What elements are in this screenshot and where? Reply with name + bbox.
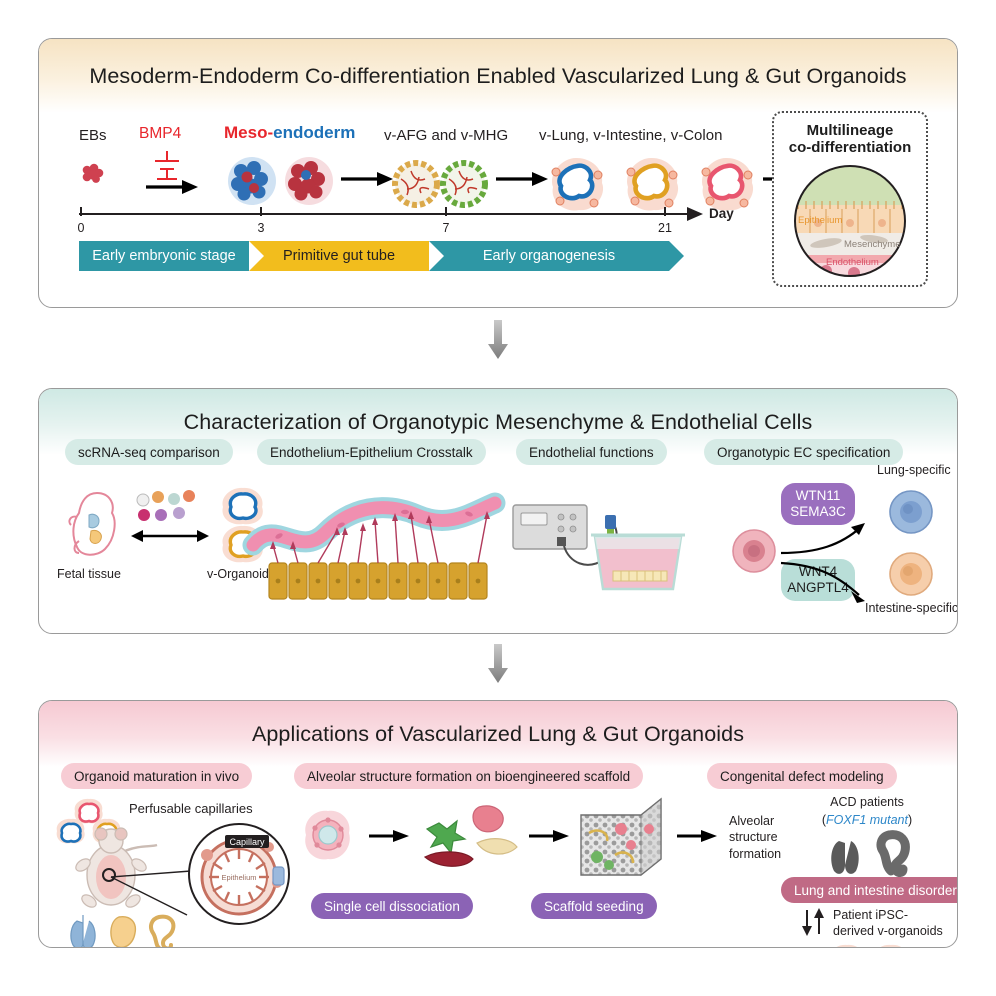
arrow-ebs-to-meso-icon: [144, 179, 200, 195]
patient-derived-organoids-icon: [825, 943, 917, 948]
arrow-afg-to-organoids-icon: [494, 171, 550, 187]
label-afg-mhg: v-AFG and v-MHG: [384, 127, 508, 144]
v-afg-organoid-icon: [391, 159, 441, 209]
label-ebs: EBs: [79, 127, 107, 144]
timeline-stage-primitive-gut-tube: Primitive gut tube: [249, 241, 429, 271]
intestine-specific-ec-icon: [885, 549, 937, 599]
panel-applications: Applications of Vascularized Lung & Gut …: [38, 700, 958, 948]
subsection-pill-scaffold[interactable]: Alveolar structure formation on bioengin…: [294, 763, 643, 789]
label-fetal-tissue: Fetal tissue: [57, 567, 121, 581]
comparison-double-arrow-icon: [131, 529, 209, 543]
panel2-body: scRNA-seq comparison Endothelium-Epithel…: [39, 455, 957, 633]
panel3-header: Applications of Vascularized Lung & Gut …: [39, 701, 957, 767]
teer-measurement-apparatus-icon: [509, 485, 689, 595]
gene-lung-line1: WTN11: [796, 488, 841, 504]
arrow-meso-to-afg-icon: [339, 171, 395, 187]
label-foxf1-mutant: (FOXF1 mutant): [822, 813, 912, 827]
timeline-tick-0: [80, 207, 82, 216]
timeline-day-label: Day: [709, 206, 734, 221]
gene-foxf1: FOXF1 mutant: [826, 813, 908, 827]
inset-label-epithelium: Epithelium: [221, 873, 256, 882]
timeline-tick-7: [445, 207, 447, 216]
layer-label-endothelium: Endothelium: [826, 257, 879, 268]
timeline-stage-label: Primitive gut tube: [283, 248, 395, 264]
bioengineered-scaffold-icon: [575, 795, 667, 887]
timeline-tick-label-3: 3: [258, 221, 265, 235]
arrow-to-scaffold-icon: [527, 829, 571, 843]
page-title: Characterization of Organotypic Mesenchy…: [184, 410, 813, 435]
endoderm-cell-cluster-icon: [282, 155, 336, 207]
capillary-inset-icon: Capillary Epithelium: [185, 821, 293, 927]
endothelium-epithelium-crosstalk-diagram: [245, 481, 505, 603]
label-alveolar-structure-formation: Alveolar structure formation: [729, 813, 781, 862]
subsection-pill-endothelial-functions[interactable]: Endothelial functions: [516, 439, 667, 465]
timeline-axis: [79, 213, 689, 215]
panel1-body: EBs BMP4: [39, 113, 957, 308]
subsection-pill-scrna[interactable]: scRNA-seq comparison: [65, 439, 233, 465]
timeline-tick-label-0: 0: [78, 221, 85, 235]
result-line3: formation: [729, 847, 781, 861]
result-line2: structure: [729, 830, 778, 844]
fetal-tissue-icon: [63, 487, 129, 561]
organoid-source-icon: [297, 807, 359, 867]
ipsc-line1: Patient iPSC-: [833, 908, 908, 922]
subsection-pill-ec-specification[interactable]: Organotypic EC specification: [704, 439, 903, 465]
diseased-lung-intestine-icon: [827, 833, 913, 875]
paren-close: ): [908, 813, 912, 827]
multilineage-title-line1: Multilineage: [807, 122, 894, 139]
figure-canvas: Mesoderm-Endoderm Co-differentiation Ena…: [0, 0, 996, 996]
label-lung-specific: Lung-specific: [877, 463, 951, 477]
disorder-pill-lung-intestine[interactable]: Lung and intestine disorders: [781, 877, 958, 903]
step-pill-scaffold-seeding[interactable]: Scaffold seeding: [531, 893, 657, 919]
timeline-stage-label: Early embryonic stage: [92, 248, 235, 264]
step-pill-single-cell-dissociation[interactable]: Single cell dissociation: [311, 893, 473, 919]
multilineage-tissue-diagram: Epithelium Mesenchyme Endothelium: [792, 165, 908, 277]
timeline-tick-label-7: 7: [443, 221, 450, 235]
subsection-pill-crosstalk[interactable]: Endothelium-Epithelium Crosstalk: [257, 439, 486, 465]
panel3-body: Organoid maturation in vivo Alveolar str…: [39, 767, 957, 947]
connector-arrow-2-icon: [487, 644, 509, 684]
multilineage-title-line2: co-differentiation: [789, 139, 912, 156]
label-endoderm: endoderm: [273, 123, 355, 142]
multilineage-title: Multilineage co-differentiation: [774, 122, 926, 157]
timeline-stage-early-embryonic: Early embryonic stage: [79, 241, 249, 271]
panel-codifferentiation: Mesoderm-Endoderm Co-differentiation Ena…: [38, 38, 958, 308]
label-bmp4: BMP4: [139, 125, 181, 143]
v-lung-organoid-icon: [544, 155, 610, 215]
label-acd-patients: ACD patients: [830, 795, 904, 809]
panel1-header: Mesoderm-Endoderm Co-differentiation Ena…: [39, 39, 957, 113]
page-title: Mesoderm-Endoderm Co-differentiation Ena…: [89, 64, 906, 89]
label-meso: Meso: [224, 123, 267, 142]
bidirectional-arrows-icon: [799, 907, 827, 937]
organ-icons-lung-stomach-intestine: [67, 911, 187, 948]
result-line1: Alveolar: [729, 814, 774, 828]
eb-cluster-icon: [79, 161, 107, 187]
label-patient-ipsc-organoids: Patient iPSC- derived v-organoids: [833, 907, 943, 940]
inset-label-capillary: Capillary: [229, 837, 265, 847]
arrow-to-result-icon: [675, 829, 719, 843]
subsection-pill-in-vivo[interactable]: Organoid maturation in vivo: [61, 763, 252, 789]
dissociated-cells-icon: [417, 801, 527, 871]
label-perfusable-capillaries: Perfusable capillaries: [129, 801, 253, 816]
timeline-stage-early-organogenesis: Early organogenesis: [429, 241, 669, 271]
arrow-to-dissociation-icon: [367, 829, 411, 843]
label-meso-endoderm: Meso-endoderm: [224, 123, 355, 143]
multilineage-box: Multilineage co-differentiation: [772, 111, 928, 287]
v-intestine-organoid-icon: [619, 155, 685, 215]
page-title: Applications of Vascularized Lung & Gut …: [252, 722, 744, 747]
mesoderm-cell-cluster-icon: [225, 155, 279, 207]
panel-characterization: Characterization of Organotypic Mesenchy…: [38, 388, 958, 634]
v-mhg-organoid-icon: [439, 159, 489, 209]
timeline-tick-label-21: 21: [658, 221, 672, 235]
timeline-arrowhead-icon: [687, 207, 705, 221]
layer-label-mesenchyme: Mesenchyme: [844, 239, 901, 250]
label-vascularized-organoids: v-Lung, v-Intestine, v-Colon: [539, 127, 722, 144]
subsection-pill-congenital[interactable]: Congenital defect modeling: [707, 763, 897, 789]
label-intestine-specific: Intestine-specific: [865, 601, 958, 615]
timeline-tick-21: [664, 207, 666, 216]
layer-label-epithelium: Epithelium: [798, 215, 842, 226]
lung-specific-ec-icon: [885, 487, 937, 537]
ipsc-line2: derived v-organoids: [833, 924, 943, 938]
timeline-tick-3: [260, 207, 262, 216]
connector-arrow-1-icon: [487, 320, 509, 360]
progenitor-ec-icon: [729, 527, 779, 575]
timeline-stage-label: Early organogenesis: [483, 248, 615, 264]
cell-dots-icon: [133, 489, 203, 523]
